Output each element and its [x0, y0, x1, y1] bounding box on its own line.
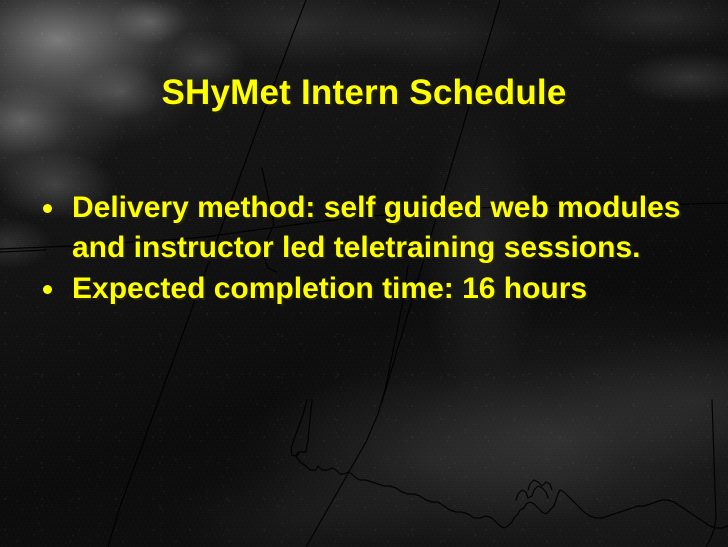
round-bullet-icon: [43, 285, 52, 294]
presentation-slide: SHyMet Intern Schedule Delivery method: …: [0, 0, 728, 547]
list-item: Delivery method: self guided web modules…: [34, 188, 694, 268]
round-bullet-icon: [43, 204, 52, 213]
bullet-text: Expected completion time: 16 hours: [72, 269, 694, 309]
bullet-text: Delivery method: self guided web modules…: [72, 188, 694, 268]
page-title: SHyMet Intern Schedule: [0, 74, 728, 112]
bullet-list: Delivery method: self guided web modules…: [34, 188, 694, 310]
list-item: Expected completion time: 16 hours: [34, 269, 694, 309]
